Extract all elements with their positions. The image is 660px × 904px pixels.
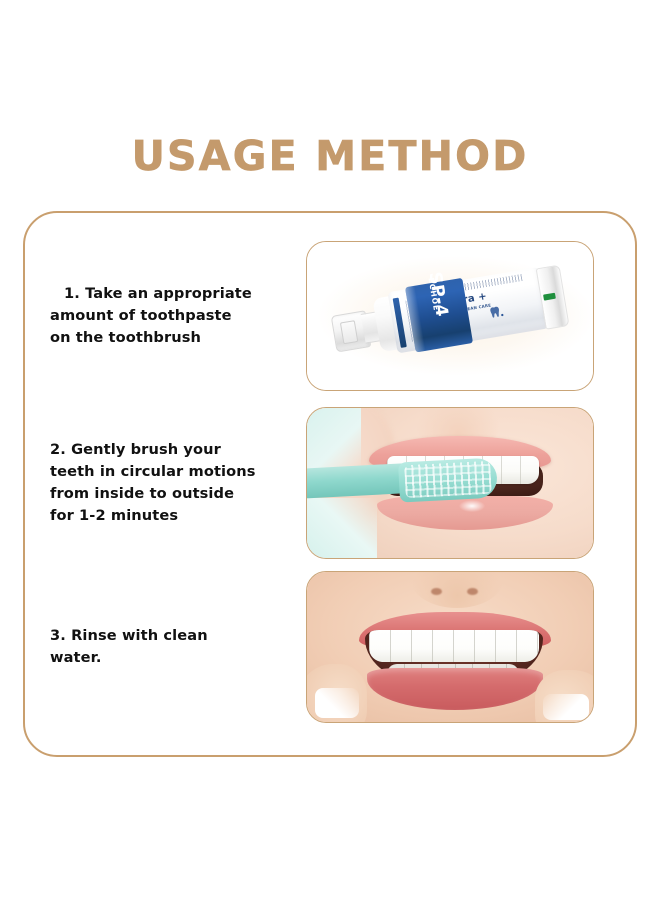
tooth-icon [487,303,507,323]
toothpaste-foam [459,500,485,512]
toothbrush-handle [306,463,412,499]
usage-step-1-text: 1. Take an appropriate amount of toothpa… [23,283,306,350]
tube-scene: Ultra + DEEP CLEAN CARE SP-4 ECHOE [307,242,593,390]
usage-step-3: 3. Rinse with clean water. [23,571,637,723]
nostril-right [467,588,478,595]
smile-scene [307,572,593,722]
usage-step-3-text: 3. Rinse with clean water. [23,625,306,669]
mint-background-top [307,408,361,470]
usage-step-1: 1. Take an appropriate amount of toothpa… [23,241,637,391]
corner-highlight-right [543,694,589,720]
brushing-scene [307,408,593,558]
usage-step-2-text: 2. Gently brush your teeth in circular m… [23,439,306,528]
usage-steps-list: 1. Take an appropriate amount of toothpa… [23,211,637,757]
toothpaste-tube: Ultra + DEEP CLEAN CARE SP-4 ECHOE [328,261,576,368]
brushing-teeth-photo [306,407,594,559]
tail-green-mark [543,293,556,301]
toothbrush-head [398,457,498,502]
tube-cap-band: SP-4 ECHOE [405,278,473,353]
toothpaste-tube-photo: Ultra + DEEP CLEAN CARE SP-4 ECHOE [306,241,594,391]
clean-smile-photo [306,571,594,723]
corner-highlight-left [315,688,359,718]
page-title: USAGE METHOD [0,136,660,177]
label-blue-stripe [393,298,407,348]
nostril-left [431,588,442,595]
usage-step-2: 2. Gently brush your teeth in circular m… [23,407,637,559]
mint-background-bottom [307,498,377,558]
toothbrush-bristles [404,461,492,498]
upper-teeth [369,630,539,662]
